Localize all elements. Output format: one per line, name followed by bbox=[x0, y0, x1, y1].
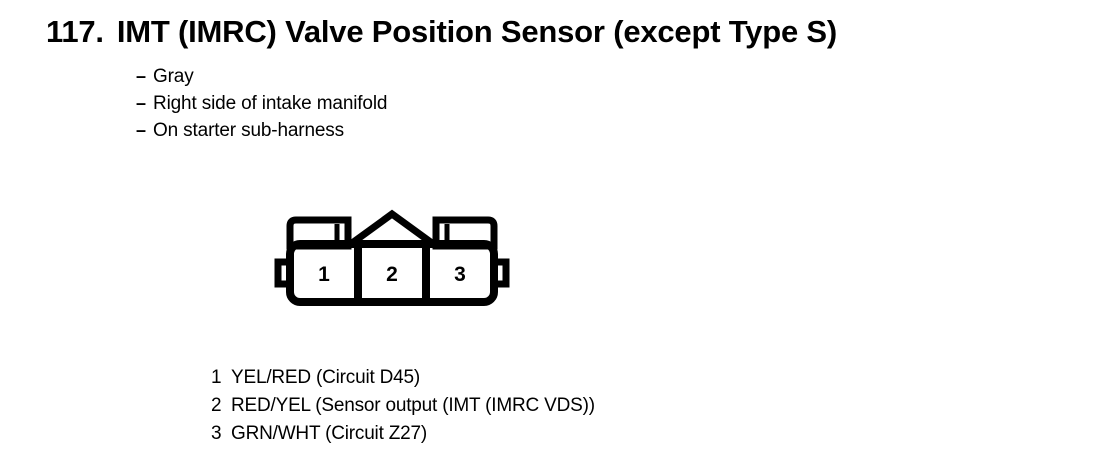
pin-description: YEL/RED (Circuit D45) bbox=[231, 364, 420, 392]
note-text: Gray bbox=[153, 63, 194, 90]
connector-diagram: 1 2 3 bbox=[272, 200, 512, 310]
pin-number: 1 bbox=[211, 364, 231, 392]
diagram-page: 117.IMT (IMRC) Valve Position Sensor (ex… bbox=[0, 0, 1120, 472]
pin-legend: 1 YEL/RED (Circuit D45) 2 RED/YEL (Senso… bbox=[211, 364, 595, 448]
list-item: 2 RED/YEL (Sensor output (IMT (IMRC VDS)… bbox=[211, 392, 595, 420]
list-item: – Gray bbox=[136, 63, 736, 90]
page-title: 117.IMT (IMRC) Valve Position Sensor (ex… bbox=[46, 14, 837, 50]
bullet-dash-icon: – bbox=[136, 63, 153, 90]
cavity-number-1: 1 bbox=[318, 263, 330, 286]
cavity-number-2: 2 bbox=[386, 263, 398, 286]
bullet-dash-icon: – bbox=[136, 117, 153, 144]
pin-number: 3 bbox=[211, 420, 231, 448]
note-text: Right side of intake manifold bbox=[153, 90, 387, 117]
list-item: – On starter sub-harness bbox=[136, 117, 736, 144]
list-item: 1 YEL/RED (Circuit D45) bbox=[211, 364, 595, 392]
list-item: – Right side of intake manifold bbox=[136, 90, 736, 117]
connector-notes-list: – Gray – Right side of intake manifold –… bbox=[136, 63, 736, 144]
pin-description: GRN/WHT (Circuit Z27) bbox=[231, 420, 427, 448]
note-text: On starter sub-harness bbox=[153, 117, 344, 144]
connector-illustration: 1 2 3 bbox=[272, 200, 512, 310]
cavity-number-3: 3 bbox=[454, 263, 466, 286]
section-title-text: IMT (IMRC) Valve Position Sensor (except… bbox=[117, 14, 837, 49]
pin-number: 2 bbox=[211, 392, 231, 420]
bullet-dash-icon: – bbox=[136, 90, 153, 117]
section-number: 117. bbox=[46, 14, 104, 49]
list-item: 3 GRN/WHT (Circuit Z27) bbox=[211, 420, 595, 448]
pin-description: RED/YEL (Sensor output (IMT (IMRC VDS)) bbox=[231, 392, 595, 420]
